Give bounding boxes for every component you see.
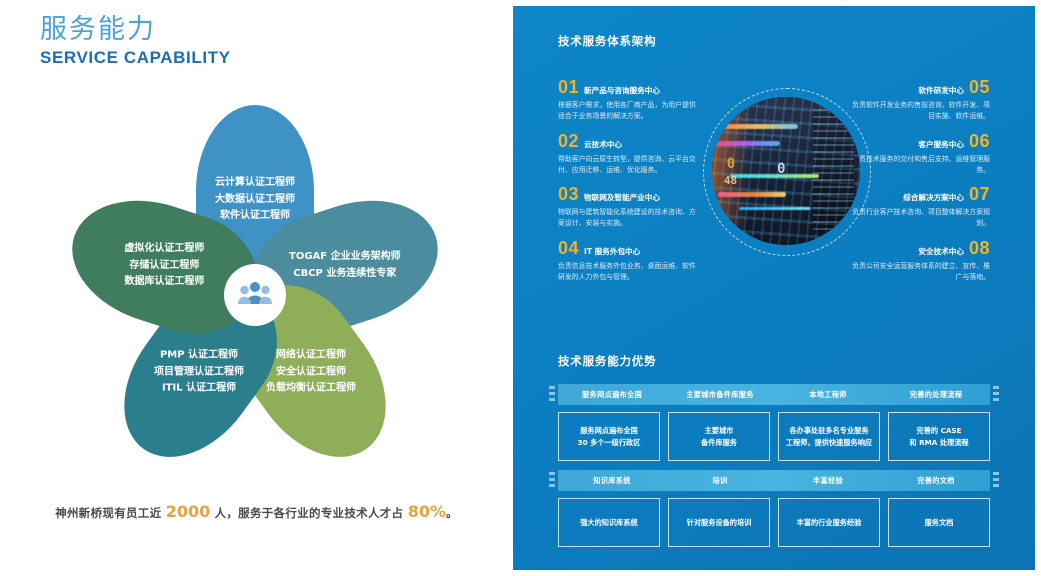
arch-item-06: 客户服务中心 06 负责技术服务的交付和售后支持、运维管理服务。 [850, 132, 990, 176]
petal-line: PMP 认证工程师 [154, 347, 244, 364]
arch-item-label: 综合解决方案中心 [903, 194, 964, 202]
advantage-cell-line: 各办事处驻多名专业服务 [789, 425, 868, 437]
arch-item-desc: 物联网与建筑智能化系统建设的技术咨询、方案设计、安装与实施。 [558, 207, 698, 229]
advantage-cell: 完善的 CASE 和 RMA 处理流程 [888, 412, 990, 461]
page-title: 服务能力 SERVICE CAPABILITY [40, 14, 231, 68]
notch-left-icon [549, 386, 555, 403]
caption-number-percent: 80% [408, 502, 446, 521]
advantage-header-cell: 完善的文档 [882, 470, 990, 491]
petal-line: 安全认证工程师 [266, 364, 356, 381]
advantage-cell: 针对服务设备的培训 [668, 498, 770, 547]
technical-service-panel: 技术服务体系架构 01 新产品与咨询服务中心 根据客户需求，使用各厂商产品，为用… [513, 6, 1035, 570]
employee-statistics-caption: 神州新桥现有员工近 2000 人，服务于各行业的专业技术人才占 80%。 [0, 502, 513, 521]
arch-item-number: 05 [969, 78, 990, 96]
advantage-cell: 主要城市 备件库服务 [668, 412, 770, 461]
petal-line: 大数据认证工程师 [215, 192, 295, 209]
arch-item-number: 08 [969, 239, 990, 257]
arch-item-desc: 帮助客户向云原生转型，提供咨询、云平台交付、应用迁移、运维、优化服务。 [558, 154, 698, 176]
advantage-cell-line: 工程师，提供快速服务响应 [786, 437, 872, 449]
arch-item-number: 07 [969, 185, 990, 203]
advantage-cell-line: 30 多个一级行政区 [578, 437, 641, 449]
arch-item-desc: 负责信息技术服务外包业务、桌面运维、软件研发的人力外包与管理。 [558, 261, 698, 283]
advantage-cell-line: 备件库服务 [701, 437, 737, 449]
advantage-cell-line: 和 RMA 处理流程 [909, 437, 968, 449]
advantage-table-2-header: 知识库系统 培训 丰富经验 完善的文档 [558, 470, 990, 491]
notch-right-icon [993, 472, 999, 489]
petal-line: 云计算认证工程师 [215, 175, 295, 192]
arch-item-label: 云技术中心 [584, 141, 622, 149]
advantage-section-title: 技术服务能力优势 [558, 353, 656, 369]
petal-line: 项目管理认证工程师 [154, 364, 244, 381]
people-group-icon [238, 280, 272, 311]
caption-part-3: 。 [446, 506, 458, 520]
arch-item-label: IT 服务外包中心 [584, 248, 640, 256]
advantage-table-2: 知识库系统 培训 丰富经验 完善的文档 强大的知识库系统 针对服务设备的培训 丰… [558, 470, 990, 547]
arch-item-desc: 负责软件开发业务的售前咨询、软件开发、项目实施、软件运维。 [850, 100, 990, 122]
arch-item-number: 02 [558, 132, 579, 150]
arch-item-03: 03 物联网及智能产业中心 物联网与建筑智能化系统建设的技术咨询、方案设计、安装… [558, 185, 698, 229]
arch-item-01: 01 新产品与咨询服务中心 根据客户需求，使用各厂商产品，为用户提供适合于业务场… [558, 78, 698, 122]
arch-item-label: 安全技术中心 [918, 248, 964, 256]
arch-item-number: 01 [558, 78, 579, 96]
caption-part-2: 人，服务于各行业的专业技术人才占 [215, 506, 404, 520]
advantage-cell-line: 丰富的行业服务经验 [797, 517, 862, 529]
notch-left-icon [549, 472, 555, 489]
arch-item-desc: 负责公司安全运营服务体系的建立、宣传、推广与落地。 [850, 261, 990, 283]
flower-center-hub [224, 264, 286, 326]
arch-item-04: 04 IT 服务外包中心 负责信息技术服务外包业务、桌面运维、软件研发的人力外包… [558, 239, 698, 283]
page-title-en: SERVICE CAPABILITY [40, 48, 231, 68]
data-center-photo: 0 48 0 [703, 88, 869, 254]
advantage-header-cell: 知识库系统 [558, 470, 666, 491]
advantage-table-1-body: 服务网点遍布全国 30 多个一级行政区 主要城市 备件库服务 各办事处驻多名专业… [558, 412, 990, 461]
petal-line: 数据库认证工程师 [125, 274, 205, 291]
advantage-cell: 强大的知识库系统 [558, 498, 660, 547]
petal-line: 网络认证工程师 [266, 347, 356, 364]
arch-item-number: 04 [558, 239, 579, 257]
advantage-table-1-header: 服务网点遍布全国 主要城市备件库服务 本地工程师 完善的处理流程 [558, 384, 990, 405]
petal-line: TOGAF 企业业务架构师 [290, 249, 402, 265]
arch-item-05: 软件研发中心 05 负责软件开发业务的售前咨询、软件开发、项目实施、软件运维。 [850, 78, 990, 122]
advantage-cell: 各办事处驻多名专业服务 工程师，提供快速服务响应 [778, 412, 880, 461]
petal-line: 虚拟化认证工程师 [125, 241, 205, 257]
architecture-section-title: 技术服务体系架构 [558, 33, 656, 49]
advantage-cell-line: 针对服务设备的培训 [687, 517, 752, 529]
petal-line: ITIL 认证工程师 [154, 380, 244, 397]
capability-flower-diagram: 云计算认证工程师 大数据认证工程师 软件认证工程师 TOGAF 企业业务架构师 … [30, 95, 480, 495]
advantage-table-1: 服务网点遍布全国 主要城市备件库服务 本地工程师 完善的处理流程 服务网点遍布全… [558, 384, 990, 461]
advantage-cell: 丰富的行业服务经验 [778, 498, 880, 547]
arch-item-label: 客户服务中心 [918, 141, 964, 149]
advantage-header-cell: 培训 [666, 470, 774, 491]
advantage-header-cell: 丰富经验 [774, 470, 882, 491]
advantage-cell: 服务文档 [888, 498, 990, 547]
advantage-cell-line: 强大的知识库系统 [580, 517, 638, 529]
arch-item-02: 02 云技术中心 帮助客户向云原生转型，提供咨询、云平台交付、应用迁移、运维、优… [558, 132, 698, 176]
notch-right-icon [993, 386, 999, 403]
advantage-cell-line: 完善的 CASE [917, 425, 962, 437]
advantage-cell-line: 服务网点遍布全国 [580, 425, 638, 437]
arch-item-08: 安全技术中心 08 负责公司安全运营服务体系的建立、宣传、推广与落地。 [850, 239, 990, 283]
advantage-header-cell: 服务网点遍布全国 [558, 384, 666, 405]
photo-circle: 0 48 0 [712, 97, 860, 245]
arch-item-label: 软件研发中心 [918, 87, 964, 95]
advantage-cell-line: 服务文档 [925, 517, 954, 529]
arch-item-number: 03 [558, 185, 579, 203]
arch-item-label: 物联网及智能产业中心 [584, 194, 660, 202]
arch-item-number: 06 [969, 132, 990, 150]
service-capability-panel: 服务能力 SERVICE CAPABILITY 云计算认证工程师 大数据认证工程… [0, 0, 513, 576]
petal-line: 负载均衡认证工程师 [266, 380, 356, 397]
advantage-header-cell: 完善的处理流程 [882, 384, 990, 405]
petal-line: 存储认证工程师 [125, 257, 205, 274]
advantage-table-2-body: 强大的知识库系统 针对服务设备的培训 丰富的行业服务经验 服务文档 [558, 498, 990, 547]
petal-line: 软件认证工程师 [215, 208, 295, 225]
arch-item-07: 综合解决方案中心 07 负责行业客户技术咨询、项目整体解决方案规划。 [850, 185, 990, 229]
caption-part-1: 神州新桥现有员工近 [55, 506, 161, 520]
arch-item-desc: 根据客户需求，使用各厂商产品，为用户提供适合于业务场景的解决方案。 [558, 100, 698, 122]
arch-item-label: 新产品与咨询服务中心 [584, 87, 660, 95]
page-title-cn: 服务能力 [40, 14, 231, 46]
advantage-cell: 服务网点遍布全国 30 多个一级行政区 [558, 412, 660, 461]
advantage-header-cell: 主要城市备件库服务 [666, 384, 774, 405]
advantage-cell-line: 主要城市 [705, 425, 734, 437]
petal-line: CBCP 业务连续性专家 [290, 266, 402, 283]
arch-item-desc: 负责行业客户技术咨询、项目整体解决方案规划。 [850, 207, 990, 229]
advantage-header-cell: 本地工程师 [774, 384, 882, 405]
caption-number-employees: 2000 [166, 502, 211, 521]
arch-item-desc: 负责技术服务的交付和售后支持、运维管理服务。 [850, 154, 990, 176]
